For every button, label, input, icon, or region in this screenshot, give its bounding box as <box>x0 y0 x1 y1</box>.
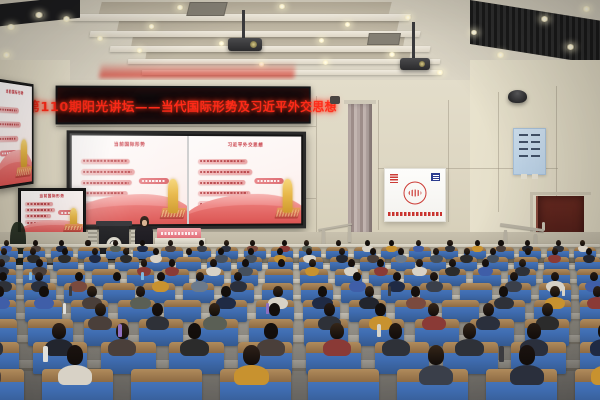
audience-member-head <box>75 272 83 282</box>
slide-bullet <box>81 180 132 185</box>
projector-lens <box>250 41 257 48</box>
slide-right-title: 习近平外交思想 <box>189 142 301 148</box>
wall-seam <box>316 96 317 236</box>
audience-member-torso <box>34 297 54 309</box>
audience-member-head <box>157 272 165 282</box>
audience-member-torso <box>472 246 483 252</box>
downlight <box>176 5 184 10</box>
downlight <box>344 22 351 27</box>
downlight <box>496 52 505 58</box>
audience-member-head <box>580 240 585 246</box>
audience-member-head <box>264 323 277 339</box>
audience-member-head <box>85 240 90 246</box>
audience-member-torso <box>382 339 410 356</box>
audience-member-head <box>35 272 43 282</box>
downlight <box>148 24 155 29</box>
audience-member-head <box>411 286 421 297</box>
downlight <box>388 52 396 57</box>
audience-member-head <box>463 323 476 339</box>
lectern-top <box>96 221 132 226</box>
water-bottle <box>266 303 269 314</box>
audience-member-torso <box>88 316 112 330</box>
window-curtain[interactable] <box>348 104 372 236</box>
audience-member-head <box>224 240 229 246</box>
water-bottle <box>118 324 122 337</box>
audience-member-torso <box>412 267 427 276</box>
slide-bullet <box>25 208 55 212</box>
downlight <box>218 41 225 46</box>
slide-bullet <box>0 136 18 141</box>
mobile-monitor-title: 当前国际形势 <box>21 194 83 199</box>
banner-seal-icon <box>404 181 427 204</box>
audience-member-head <box>282 240 287 246</box>
audience-member-torso <box>137 267 152 276</box>
audience-member-torso <box>137 246 148 252</box>
downlight <box>322 60 329 65</box>
audience-member-head <box>62 248 68 255</box>
slide-left-title: 当前国际形势 <box>72 141 187 148</box>
audience-member-torso <box>374 267 389 276</box>
audience-member-torso <box>152 281 169 291</box>
audience-member-torso <box>230 281 247 291</box>
water-bottle <box>43 346 48 362</box>
desk-row <box>0 360 600 368</box>
ceiling-projector <box>400 58 430 70</box>
audience-member-head <box>375 303 386 316</box>
audience-member-head <box>393 272 401 282</box>
audience-member-torso <box>165 246 176 252</box>
audience-member-head <box>475 240 480 246</box>
audience-member-torso <box>274 267 289 276</box>
calligraphy-column <box>531 134 540 162</box>
slide-bullet <box>198 180 245 185</box>
audience-member-head <box>519 345 535 364</box>
audience-member-head <box>389 323 402 339</box>
downlight <box>278 4 286 9</box>
audience-member-head <box>525 240 530 246</box>
water-bottle <box>377 324 381 337</box>
audience-member-head <box>510 272 518 282</box>
audience-member-head <box>152 303 163 316</box>
audience-member-head <box>186 248 192 255</box>
audience-member-head <box>542 303 553 316</box>
audience-member-torso <box>349 281 366 291</box>
audience-member-torso <box>257 339 285 356</box>
slide-statue-graphic <box>168 179 178 213</box>
audience-member-head <box>365 240 370 246</box>
angled-display-slide: 当前国际形势 <box>0 81 32 186</box>
audience-member-torso <box>110 246 121 252</box>
projection-screen-surface: 当前国际形势 习近平外交思想 <box>72 135 301 224</box>
audience-member-head <box>498 240 503 246</box>
lecture-hall-photo: 第110期阳光讲坛——当代国际形势及习近平外交思想 当前国际形势 习近平外交思想 <box>0 0 600 400</box>
stage-step-rail-post <box>348 226 351 242</box>
slide-bullet <box>0 107 19 114</box>
audience-member-head <box>140 240 145 246</box>
audience-member-head <box>309 259 316 267</box>
slide-bullet <box>81 159 130 165</box>
slide-bullet <box>198 169 252 174</box>
slide-monument-base <box>15 166 32 178</box>
slide-left: 当前国际形势 <box>72 135 187 224</box>
audience-member-torso <box>386 246 397 252</box>
audience-member-torso <box>445 246 456 252</box>
audience-member-torso <box>206 267 221 276</box>
panel-mount-tab <box>521 174 527 179</box>
audience-member-head <box>95 303 106 316</box>
audience-member-torso <box>323 339 351 356</box>
audience-member-torso <box>406 297 426 309</box>
audience-member-torso <box>494 297 514 309</box>
downlight <box>470 30 478 35</box>
audience-member-head <box>365 286 375 297</box>
audience-member-head <box>428 303 439 316</box>
audience-member-torso <box>197 246 208 252</box>
audience-member-torso <box>510 365 544 386</box>
audience-member-head <box>4 240 9 246</box>
audience-member-head <box>447 240 452 246</box>
slide-right: 习近平外交思想 <box>189 136 301 224</box>
audience-member-torso <box>422 316 446 330</box>
audience-member-head <box>52 323 65 339</box>
audience-member-torso <box>430 255 442 263</box>
audience-member-head <box>168 240 173 246</box>
downlight <box>62 16 71 22</box>
audience-member-head <box>196 272 204 282</box>
led-marquee-text: 第110期阳光讲坛——当代国际形势及习近平外交思想 <box>27 95 337 115</box>
audience-member-torso <box>426 281 443 291</box>
downlight <box>540 16 549 22</box>
audience-member-torso <box>336 255 348 263</box>
projector-mount-rod <box>242 10 245 40</box>
audience-member-head <box>336 240 341 246</box>
audience-member-torso <box>70 281 87 291</box>
audience-member-torso <box>130 297 150 309</box>
calligraphy-column <box>519 134 528 162</box>
audience-member-torso <box>587 297 600 309</box>
banner-logo-right <box>431 173 440 181</box>
audience-member-head <box>87 286 97 297</box>
banner-caption-text <box>388 212 442 216</box>
projector-lens <box>419 61 425 67</box>
audience-member-torso <box>108 281 125 291</box>
hvac-vent <box>186 2 227 16</box>
slide-bullet <box>25 202 52 206</box>
audience-member-head <box>449 259 456 267</box>
downlight <box>566 44 575 50</box>
slide-statue-graphic <box>283 179 293 213</box>
audience-member-torso <box>460 255 472 263</box>
panel-mount-tab <box>532 174 538 179</box>
audience-member-torso <box>496 246 507 252</box>
slide-statue-graphic <box>21 139 27 167</box>
audience-member-head <box>348 259 355 267</box>
presenter-face <box>142 220 147 226</box>
downlight <box>318 38 325 43</box>
auditorium-seat[interactable] <box>131 369 202 400</box>
audience-member-head <box>113 272 121 282</box>
mobile-monitor-slide: 当前国际形势 <box>21 191 83 235</box>
ceiling-beam <box>69 14 411 21</box>
audience-member-head <box>339 248 345 255</box>
audience-member-torso <box>583 255 595 263</box>
slide-bullet <box>25 214 51 218</box>
downlight <box>96 36 104 41</box>
downlight <box>6 24 16 30</box>
audience-member-torso <box>150 255 162 263</box>
water-bottle <box>562 286 565 296</box>
audience-member-head <box>113 240 118 246</box>
audience-member-head <box>242 259 249 267</box>
audience-member-head <box>370 248 376 255</box>
audience-member-head <box>499 286 509 297</box>
downlight <box>404 15 412 20</box>
audience-member-head <box>428 345 444 364</box>
slide-bullet <box>0 121 21 127</box>
audience-member-head <box>243 345 259 364</box>
water-bottle <box>499 346 504 362</box>
audience-member-torso <box>413 246 424 252</box>
ceiling-dome-speaker <box>508 90 527 103</box>
audience-member-head <box>552 248 558 255</box>
water-bottle <box>388 286 391 296</box>
audience-member-head <box>250 240 255 246</box>
audience-member-head <box>550 286 560 297</box>
audience-member-torso <box>191 281 208 291</box>
audience-member-head <box>221 286 231 297</box>
audience-member-torso <box>455 339 483 356</box>
led-marquee: 第110期阳光讲坛——当代国际形势及习近平外交思想 <box>56 86 311 125</box>
audience-member-head <box>59 240 64 246</box>
audience-member-head <box>519 259 526 267</box>
audience-member-torso <box>58 255 70 263</box>
water-bottle <box>63 303 66 314</box>
presenter-head <box>140 216 149 227</box>
audience-member-head <box>416 240 421 246</box>
wall-seam <box>56 126 316 127</box>
audience-member-head <box>389 240 394 246</box>
audience-member-head <box>39 286 49 297</box>
slide-bullet <box>81 169 134 174</box>
audience-member-torso <box>445 267 460 276</box>
audience-member-head <box>483 303 494 316</box>
audience-member-head <box>330 323 343 339</box>
wall-seam <box>448 100 449 222</box>
angled-wall-display-left: 当前国际形势 <box>0 78 34 190</box>
audience-member-head <box>278 259 285 267</box>
water-bottle <box>69 286 72 296</box>
wall-speaker <box>330 96 340 104</box>
calligraphy-panel <box>513 128 546 175</box>
audience-member-head <box>210 259 217 267</box>
slide-callout <box>254 178 283 184</box>
audience-member-torso <box>203 316 227 330</box>
downlight <box>34 12 44 18</box>
audience-member-head <box>324 303 335 316</box>
audience-member-head <box>188 323 201 339</box>
stage-light-glow <box>99 62 296 78</box>
audience-member-torso <box>478 267 493 276</box>
angled-display-title: 当前国际形势 <box>0 87 32 97</box>
banner-logo-left <box>390 174 398 183</box>
wall-seam <box>498 92 499 212</box>
projection-screen: 当前国际形势 习近平外交思想 <box>67 130 306 229</box>
wall-seam <box>378 100 379 230</box>
projector-mount-rod <box>412 22 415 60</box>
audience-member-torso <box>108 339 136 356</box>
audience-member-head <box>464 248 470 255</box>
audience-member-head <box>586 248 592 255</box>
audience-member-head <box>527 323 540 339</box>
downlight <box>436 70 444 75</box>
water-bottle <box>29 272 32 280</box>
downlight <box>2 52 11 58</box>
mobile-monitor-left: 当前国际形势 <box>18 188 86 238</box>
auditorium-seat[interactable] <box>308 369 379 400</box>
slide-bullet <box>198 159 248 164</box>
audience-member-head <box>556 240 561 246</box>
audience-member-head <box>525 248 531 255</box>
audience-member-torso <box>182 255 194 263</box>
audience-member-head <box>67 345 83 364</box>
downlight <box>582 6 591 12</box>
audience-member-torso <box>215 255 227 263</box>
audience-member-torso <box>476 316 500 330</box>
audience-member-torso <box>146 316 170 330</box>
ceiling-projector <box>228 38 262 51</box>
slide-callout <box>139 178 169 184</box>
wall-seam <box>556 86 557 196</box>
audience-member-torso <box>180 339 208 356</box>
audience-member-head <box>551 272 559 282</box>
audience-member-head <box>593 286 600 297</box>
audience-member-head <box>590 272 598 282</box>
audience-member-torso <box>419 365 453 386</box>
audience-member-head <box>209 303 220 316</box>
audience-member-head <box>318 286 328 297</box>
water-bottle <box>141 272 144 280</box>
event-banner <box>384 168 446 222</box>
audience-member-torso <box>234 365 268 386</box>
audience-member-head <box>269 303 280 316</box>
audience-member-head <box>136 286 146 297</box>
audience-member-torso <box>58 365 92 386</box>
ceiling-beam <box>110 46 431 52</box>
audience-member-torso <box>548 255 560 263</box>
downlight <box>136 48 143 53</box>
auditorium-seat[interactable] <box>0 369 24 400</box>
audience-member-head <box>273 286 283 297</box>
hvac-vent <box>367 33 401 45</box>
